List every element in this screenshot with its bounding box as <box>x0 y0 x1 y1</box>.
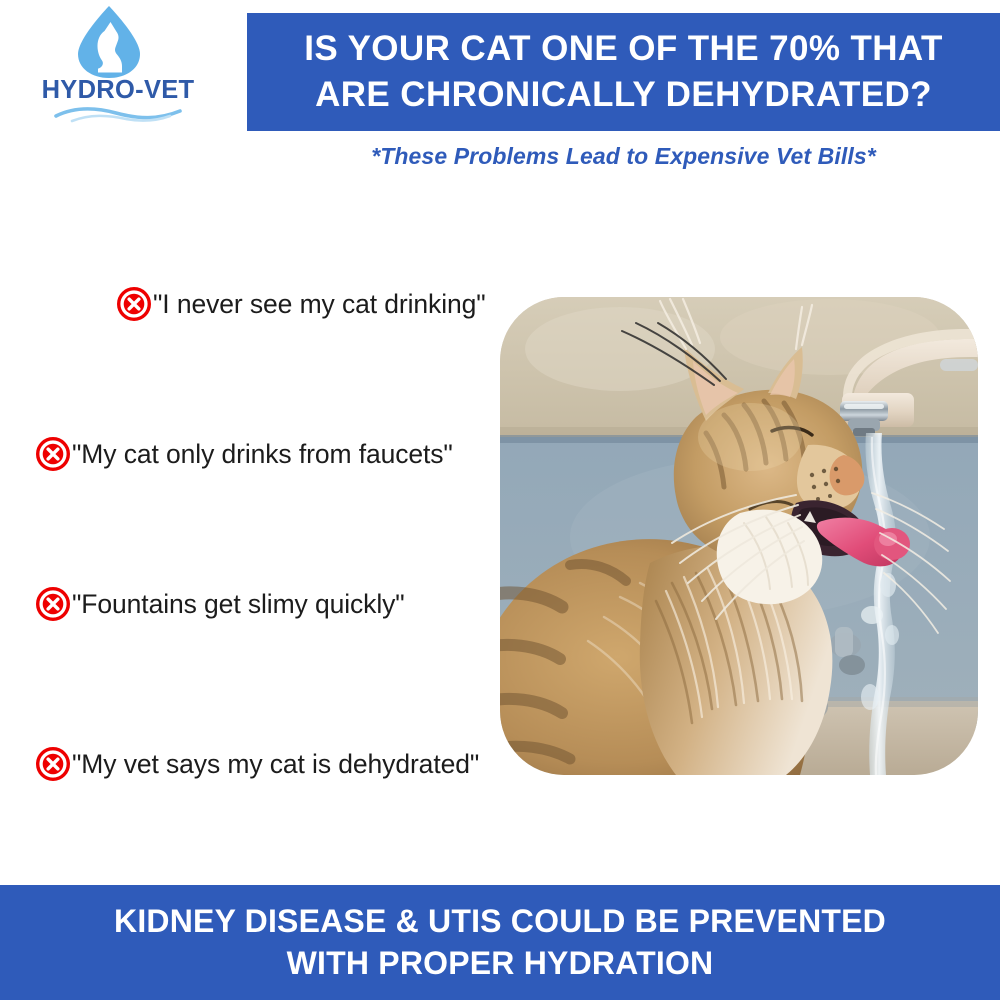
list-item: "Fountains get slimy quickly" <box>36 582 405 626</box>
water-droplet-cat-icon <box>70 4 148 80</box>
pain-point-list: "I never see my cat drinking" "My cat on… <box>0 260 510 820</box>
list-item-label: "My vet says my cat is dehydrated" <box>72 749 479 780</box>
wave-icon <box>54 105 182 125</box>
red-x-circle-icon <box>36 587 70 621</box>
list-item-label: "My cat only drinks from faucets" <box>72 439 453 470</box>
subtitle-text: *These Problems Lead to Expensive Vet Bi… <box>247 143 1000 170</box>
footer-headline-line1: KIDNEY DISEASE & UTIS COULD BE PREVENTED <box>114 901 886 943</box>
list-item: "My cat only drinks from faucets" <box>36 432 453 476</box>
header-headline-line1: IS YOUR CAT ONE OF THE 70% THAT <box>304 26 943 72</box>
footer-headline-line2: WITH PROPER HYDRATION <box>287 943 714 985</box>
red-x-circle-icon <box>36 747 70 781</box>
list-item-label: "I never see my cat drinking" <box>153 289 486 320</box>
red-x-circle-icon <box>117 287 151 321</box>
list-item-label: "Fountains get slimy quickly" <box>72 589 405 620</box>
header-banner: IS YOUR CAT ONE OF THE 70% THAT ARE CHRO… <box>247 13 1000 131</box>
list-item: "My vet says my cat is dehydrated" <box>36 742 479 786</box>
cat-drinking-photo <box>500 297 978 775</box>
footer-banner: KIDNEY DISEASE & UTIS COULD BE PREVENTED… <box>0 885 1000 1000</box>
brand-logo: HYDRO-VET <box>18 2 218 127</box>
header-headline-line2: ARE CHRONICALLY DEHYDRATED? <box>315 72 932 118</box>
list-item: "I never see my cat drinking" <box>117 282 486 326</box>
brand-wordmark: HYDRO-VET <box>18 78 218 104</box>
red-x-circle-icon <box>36 437 70 471</box>
